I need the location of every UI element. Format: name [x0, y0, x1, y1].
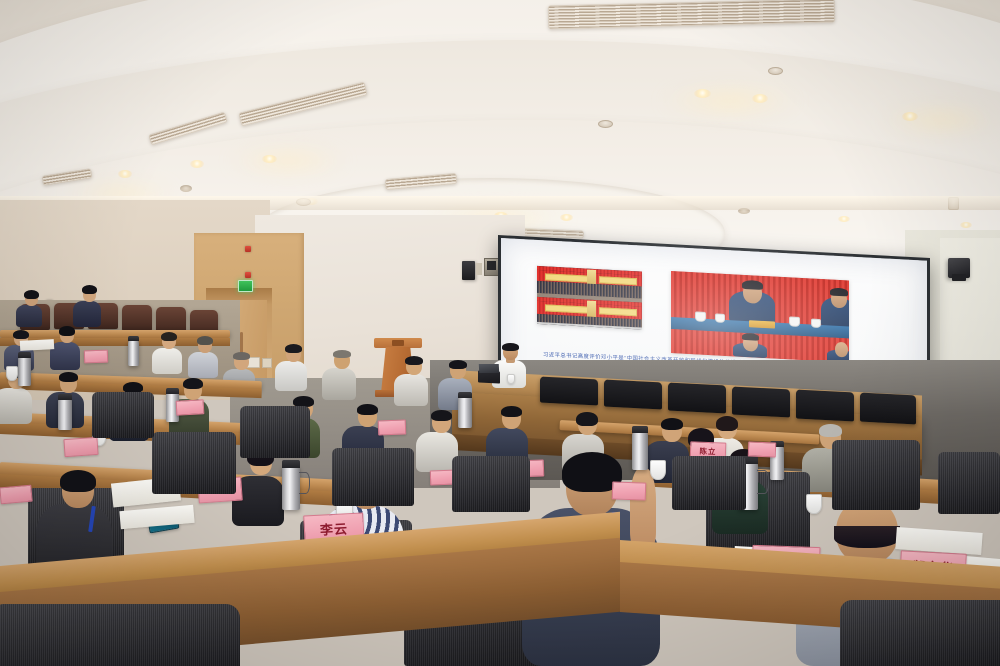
- presenter-hair: [502, 343, 519, 351]
- attendee-hair: [431, 410, 452, 421]
- wall-equipment-box-face: [487, 261, 496, 270]
- door-handle[interactable]: [240, 332, 243, 354]
- smoke-detector-2: [598, 120, 613, 128]
- attendee-hair: [576, 412, 598, 426]
- fire-alarm-icon-3: [245, 246, 251, 252]
- attendee-hair: [357, 404, 378, 415]
- attendee-hair: [405, 356, 423, 365]
- dais-chair-2[interactable]: [604, 379, 662, 409]
- thermos-cap-4: [166, 388, 179, 394]
- thermos-6: [458, 396, 472, 428]
- placard-name-text: 陈立: [699, 448, 716, 456]
- paper-cup-1: [6, 366, 18, 381]
- thermos-1: [18, 356, 31, 386]
- attendee-torso: [152, 348, 182, 374]
- ceiling-downlight-1: [694, 89, 711, 98]
- attendee-hair: [449, 360, 467, 369]
- thermos-cap-5: [282, 460, 300, 468]
- chair-mid-right-2[interactable]: [938, 452, 1000, 514]
- chair-row-center-3[interactable]: [672, 456, 746, 510]
- attendee-hair: [24, 290, 39, 299]
- placard-generic-2: [176, 399, 205, 415]
- speaker-bracket-right: [952, 274, 966, 281]
- attendee-arm: [630, 468, 656, 548]
- placard-generic-7: [748, 442, 777, 458]
- thermos-cap-7: [632, 426, 648, 433]
- paper-sheet-5: [20, 339, 54, 351]
- thermos-3: [58, 398, 72, 430]
- thermos-cap-3: [58, 394, 72, 400]
- conference-room-photo: 习近平总书记高度评价邓小平是"中国社会主义改革开放和现代化建设的总设计师"，"邓…: [0, 0, 1000, 666]
- placard-generic-3: [84, 350, 108, 364]
- dais-chair-6[interactable]: [860, 393, 916, 425]
- attendee-hair: [13, 330, 29, 339]
- attendee-torso: [0, 388, 32, 424]
- thermos-5: [282, 466, 300, 510]
- smoke-detector-1: [768, 67, 783, 75]
- slide-photo-leader-speech: [671, 271, 849, 362]
- chair-foreground-right[interactable]: [840, 600, 1000, 666]
- attendee-hair: [59, 326, 75, 336]
- thermos-2: [128, 340, 139, 366]
- slide-photo-congress-hall: [537, 266, 642, 330]
- attendee-hair-fringe: [834, 526, 900, 548]
- ceiling-downlight-14: [960, 222, 972, 228]
- ceiling-downlight-4: [262, 155, 277, 163]
- thermos-7: [632, 432, 648, 470]
- attendee-torso: [73, 301, 101, 327]
- ceiling-downlight-5: [190, 160, 204, 168]
- paper-cup-8: [806, 494, 822, 514]
- attendee-grey-hair: [819, 424, 842, 437]
- dais-chair-4[interactable]: [732, 386, 790, 417]
- chair-row-center-1[interactable]: [332, 448, 414, 506]
- chair-row-left-1[interactable]: [152, 432, 236, 494]
- laptop-screen: [479, 364, 499, 373]
- placard-generic-4: [378, 420, 407, 436]
- presenter-cup: [507, 374, 515, 384]
- chair-mid-right[interactable]: [832, 440, 920, 510]
- attendee-torso: [16, 305, 42, 327]
- attendee-torso: [394, 374, 428, 406]
- ceiling-light-glow-2: [880, 106, 1000, 134]
- paper-sheet-1: [119, 505, 194, 529]
- exit-sign-icon: [238, 280, 253, 292]
- ceiling-downlight-13: [838, 216, 850, 222]
- attendee-hair: [501, 406, 522, 417]
- chair-foreground-left[interactable]: [0, 604, 240, 666]
- attendee-hair: [82, 285, 97, 294]
- attendee-torso: [50, 342, 80, 370]
- ceiling-light-glow-3: [228, 148, 348, 174]
- placard-generic-6: [612, 481, 647, 500]
- attendee-hair: [661, 418, 683, 430]
- chair-row-center-2[interactable]: [452, 456, 530, 512]
- ceiling-light-glow-1: [660, 86, 800, 116]
- dais-chair-5[interactable]: [796, 389, 854, 421]
- placard-generic-1: [63, 437, 98, 457]
- ceiling-downlight-2: [752, 94, 768, 103]
- ceiling-downlight-11: [180, 185, 192, 192]
- ceiling-downlight-8: [560, 214, 573, 221]
- wall-speaker-left-icon: [462, 261, 475, 280]
- attendee-hair: [716, 416, 738, 431]
- attendee-hair: [333, 350, 351, 358]
- chair-row-left-2[interactable]: [240, 406, 310, 458]
- auditorium-seat-4[interactable]: [122, 305, 152, 331]
- thermos-cap-2: [128, 336, 139, 341]
- lectern-notch: [392, 340, 404, 346]
- dais-chair-3[interactable]: [668, 382, 726, 413]
- attendee-hair: [183, 378, 203, 389]
- wall-switch-plate[interactable]: [262, 358, 272, 368]
- paper-cup-7: [650, 460, 666, 480]
- placard-generic-8: [0, 485, 33, 505]
- attendee-hair: [285, 344, 302, 353]
- ceiling-downlight-6: [118, 170, 132, 178]
- chair-row-left-3[interactable]: [92, 392, 154, 438]
- fire-alarm-icon-4: [245, 272, 251, 278]
- attendee-hair: [59, 372, 78, 382]
- attendee-hair: [60, 470, 96, 492]
- attendee-torso: [188, 352, 218, 378]
- ceiling-downlight-3: [902, 112, 918, 121]
- tier-desk-back: [0, 330, 230, 338]
- attendee-torso: [322, 368, 356, 400]
- thermos-cap-1: [18, 352, 31, 358]
- dais-chair-1[interactable]: [540, 376, 598, 405]
- thermos-handle-8: [757, 470, 769, 494]
- attendee-hair: [233, 352, 250, 360]
- thermos-handle-5: [299, 472, 310, 494]
- thermos-cap-6: [458, 392, 472, 398]
- attendee-torso: [275, 361, 307, 391]
- speaker-bracket-left: [476, 263, 482, 275]
- attendee-hair: [161, 332, 177, 341]
- attendee-hair: [197, 336, 213, 345]
